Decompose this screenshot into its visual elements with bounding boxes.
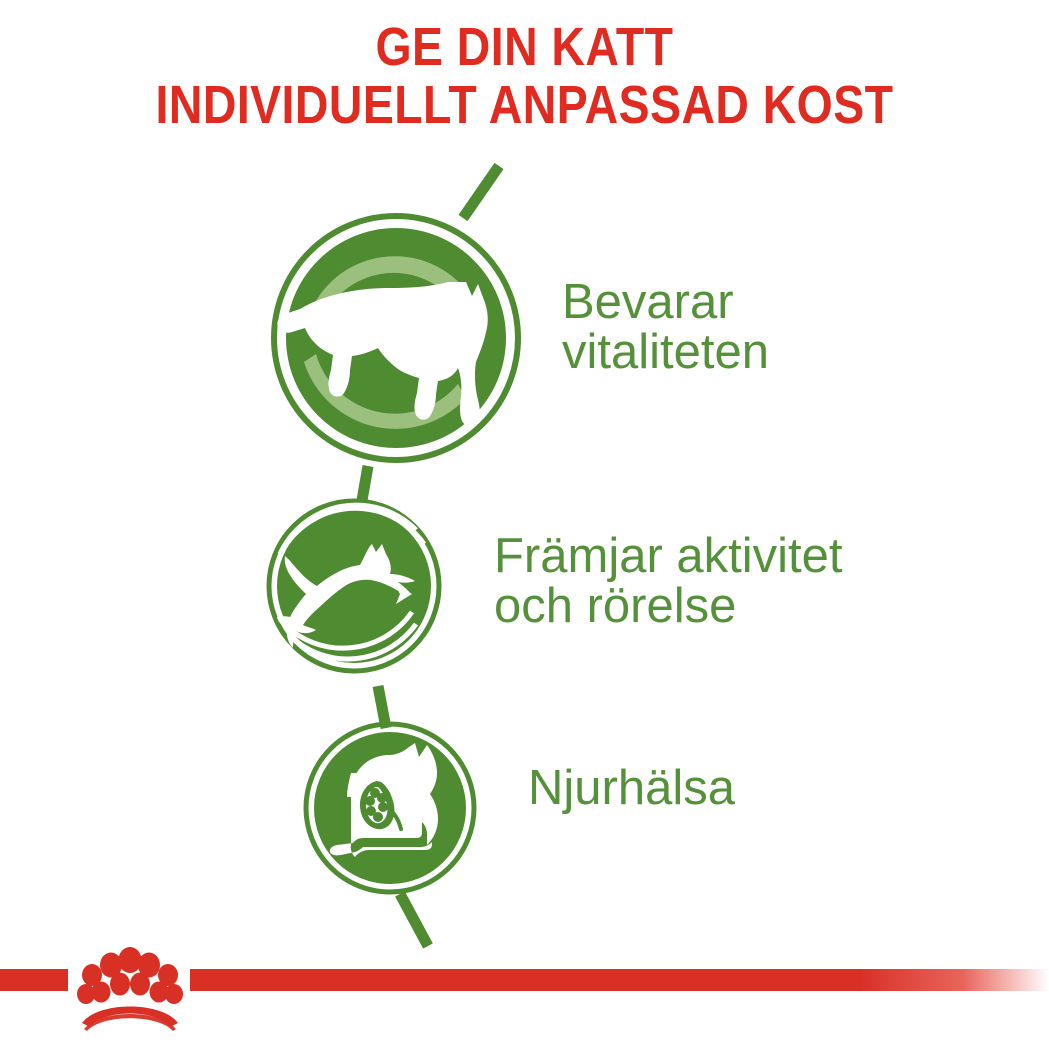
walking-cat-icon (274, 216, 518, 460)
page-title: GE DIN KATT INDIVIDUELLT ANPASSAD KOST (73, 18, 975, 135)
connector-dash-top (455, 160, 507, 224)
feature-label-kidney: Njurhälsa (528, 764, 735, 814)
sitting-cat-kidney-icon (306, 724, 474, 892)
feature-icon-activity (266, 498, 442, 674)
feature-label-activity: Främjar aktivitet och rörelse (494, 532, 843, 632)
feature-icon-vitality (270, 212, 522, 464)
leaping-cat-icon (269, 501, 439, 671)
crown-logo-icon (70, 939, 190, 1031)
page-title-line-2: INDIVIDUELLT ANPASSAD KOST (73, 76, 975, 134)
feature-icon-kidney (303, 721, 477, 895)
page-title-line-1: GE DIN KATT (73, 18, 975, 76)
footer-rule-right (190, 969, 1049, 991)
footer (0, 939, 1049, 1049)
poster-canvas: GE DIN KATT INDIVIDUELLT ANPASSAD KOST B… (0, 0, 1049, 1049)
feature-label-vitality: Bevarar vitaliteten (562, 278, 769, 378)
footer-rule-left (0, 969, 68, 991)
